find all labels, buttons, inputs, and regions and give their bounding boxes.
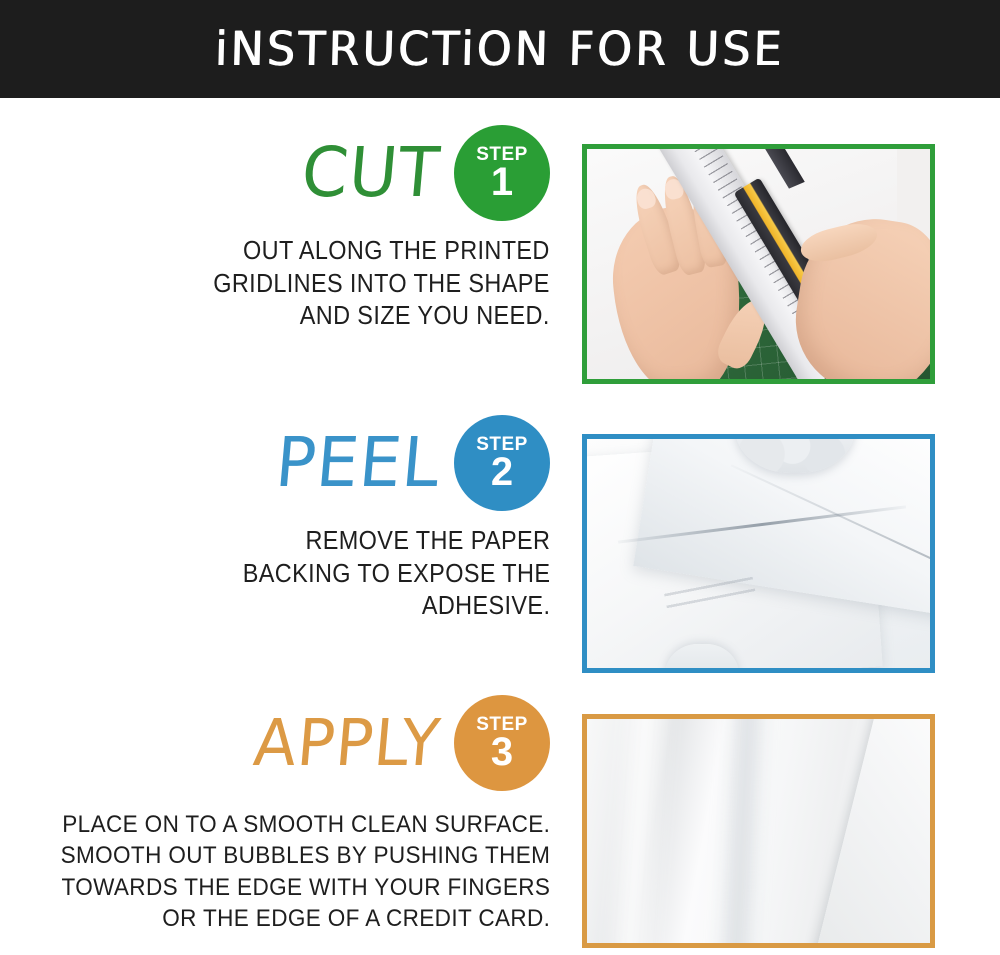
step-3-badge-number: 3 <box>491 732 513 772</box>
instruction-for-use-infographic: iNSTRUCTiON FOR USE CUT STEP 1 OUT ALONG… <box>0 0 1000 955</box>
step-2-headline: PEEL STEP 2 <box>0 415 550 511</box>
step-1-badge-number: 1 <box>491 162 513 202</box>
step-row-peel: PEEL STEP 2 REMOVE THE PAPER BACKING TO … <box>0 415 1000 685</box>
step-3-photo-frame <box>582 714 935 948</box>
page-title: iNSTRUCTiON FOR USE <box>214 22 785 77</box>
step-row-apply: APPLY STEP 3 PLACE ON TO A SMOOTH CLEAN … <box>0 695 1000 955</box>
step-1-text-column: CUT STEP 1 OUT ALONG THE PRINTED GRIDLIN… <box>0 125 560 395</box>
step-2-word: PEEL <box>273 429 443 498</box>
step-1-headline: CUT STEP 1 <box>0 125 550 221</box>
step-1-photo-frame <box>582 144 935 384</box>
step-2-photo-frame <box>582 434 935 673</box>
step-2-photo-peeling-backing <box>587 439 930 668</box>
header-banner: iNSTRUCTiON FOR USE <box>0 0 1000 98</box>
step-row-cut: CUT STEP 1 OUT ALONG THE PRINTED GRIDLIN… <box>0 125 1000 395</box>
step-2-badge: STEP 2 <box>454 415 550 511</box>
step-2-text-column: PEEL STEP 2 REMOVE THE PAPER BACKING TO … <box>0 415 560 685</box>
step-3-badge: STEP 3 <box>454 695 550 791</box>
step-1-description: OUT ALONG THE PRINTED GRIDLINES INTO THE… <box>214 235 550 333</box>
step-3-text-column: APPLY STEP 3 PLACE ON TO A SMOOTH CLEAN … <box>0 695 560 955</box>
step-1-photo-cutting-with-ruler <box>587 149 930 379</box>
step-3-description: PLACE ON TO A SMOOTH CLEAN SURFACE. SMOO… <box>60 809 550 934</box>
step-2-description: REMOVE THE PAPER BACKING TO EXPOSE THE A… <box>242 525 550 623</box>
step-2-badge-number: 2 <box>491 452 513 492</box>
step-3-photo-applied-sheet <box>587 719 930 943</box>
step-1-word: CUT <box>299 139 443 208</box>
step-3-headline: APPLY STEP 3 <box>0 695 550 791</box>
step-3-word: APPLY <box>251 711 443 775</box>
step-1-badge: STEP 1 <box>454 125 550 221</box>
